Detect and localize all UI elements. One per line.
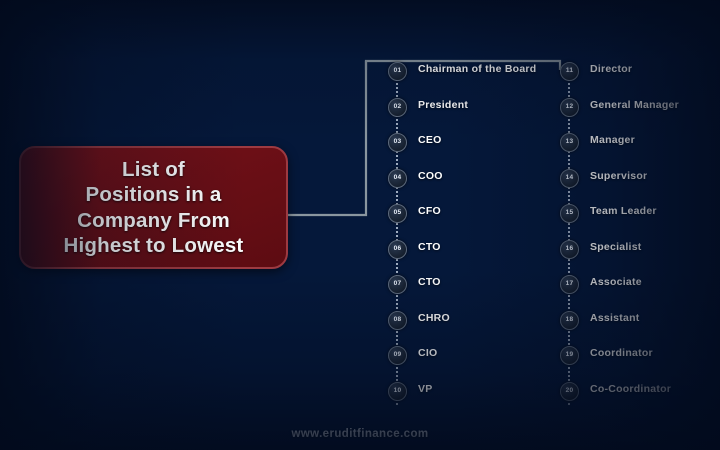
- number-badge: 06: [388, 240, 407, 259]
- number-badge: 02: [388, 98, 407, 117]
- title-callout: List of Positions in a Company From High…: [19, 146, 288, 269]
- badge-number: 09: [394, 352, 402, 359]
- position-label: Co-Coordinator: [590, 383, 671, 395]
- number-badge: 20: [560, 382, 579, 401]
- position-label: Team Leader: [590, 205, 657, 217]
- position-label: CHRO: [418, 312, 450, 324]
- slide-canvas: List of Positions in a Company From High…: [0, 0, 720, 450]
- number-badge: 15: [560, 204, 579, 223]
- number-badge: 18: [560, 311, 579, 330]
- position-label: Associate: [590, 276, 642, 288]
- badge-number: 16: [566, 246, 574, 253]
- badge-number: 10: [394, 388, 402, 395]
- footer-url[interactable]: www.eruditfinance.com: [0, 428, 720, 440]
- position-label: CEO: [418, 134, 442, 146]
- position-label: Assistant: [590, 312, 640, 324]
- position-label: Specialist: [590, 241, 642, 253]
- position-label: CTO: [418, 276, 441, 288]
- position-label: Chairman of the Board: [418, 63, 536, 75]
- badge-number: 03: [394, 139, 402, 146]
- number-badge: 07: [388, 275, 407, 294]
- badge-number: 17: [566, 281, 574, 288]
- badge-number: 05: [394, 210, 402, 217]
- position-label: COO: [418, 170, 443, 182]
- position-label: Supervisor: [590, 170, 647, 182]
- number-badge: 13: [560, 133, 579, 152]
- position-label: Coordinator: [590, 347, 653, 359]
- position-label: CIO: [418, 347, 437, 359]
- badge-number: 13: [566, 139, 574, 146]
- number-badge: 08: [388, 311, 407, 330]
- badge-number: 02: [394, 104, 402, 111]
- number-badge: 11: [560, 62, 579, 81]
- badge-number: 19: [566, 352, 574, 359]
- badge-number: 08: [394, 317, 402, 324]
- badge-number: 07: [394, 281, 402, 288]
- position-label: General Manager: [590, 99, 679, 111]
- badge-number: 18: [566, 317, 574, 324]
- position-label: Director: [590, 63, 632, 75]
- title-line-3: Company From: [64, 208, 244, 233]
- number-badge: 14: [560, 169, 579, 188]
- number-badge: 04: [388, 169, 407, 188]
- position-label: VP: [418, 383, 433, 395]
- number-badge: 17: [560, 275, 579, 294]
- title-line-2: Positions in a: [64, 182, 244, 207]
- position-label: CTO: [418, 241, 441, 253]
- badge-number: 12: [566, 104, 574, 111]
- badge-number: 04: [394, 175, 402, 182]
- badge-number: 15: [566, 210, 574, 217]
- number-badge: 01: [388, 62, 407, 81]
- number-badge: 05: [388, 204, 407, 223]
- number-badge: 10: [388, 382, 407, 401]
- position-label: President: [418, 99, 468, 111]
- number-badge: 09: [388, 346, 407, 365]
- number-badge: 12: [560, 98, 579, 117]
- position-label: Manager: [590, 134, 635, 146]
- number-badge: 16: [560, 240, 579, 259]
- number-badge: 03: [388, 133, 407, 152]
- title-line-1: List of: [64, 157, 244, 182]
- page-title: List of Positions in a Company From High…: [64, 157, 244, 258]
- position-label: CFO: [418, 205, 441, 217]
- badge-number: 20: [566, 388, 574, 395]
- badge-number: 11: [566, 68, 573, 75]
- badge-number: 01: [394, 68, 402, 75]
- badge-number: 06: [394, 246, 402, 253]
- title-line-4: Highest to Lowest: [64, 233, 244, 258]
- number-badge: 19: [560, 346, 579, 365]
- badge-number: 14: [566, 175, 574, 182]
